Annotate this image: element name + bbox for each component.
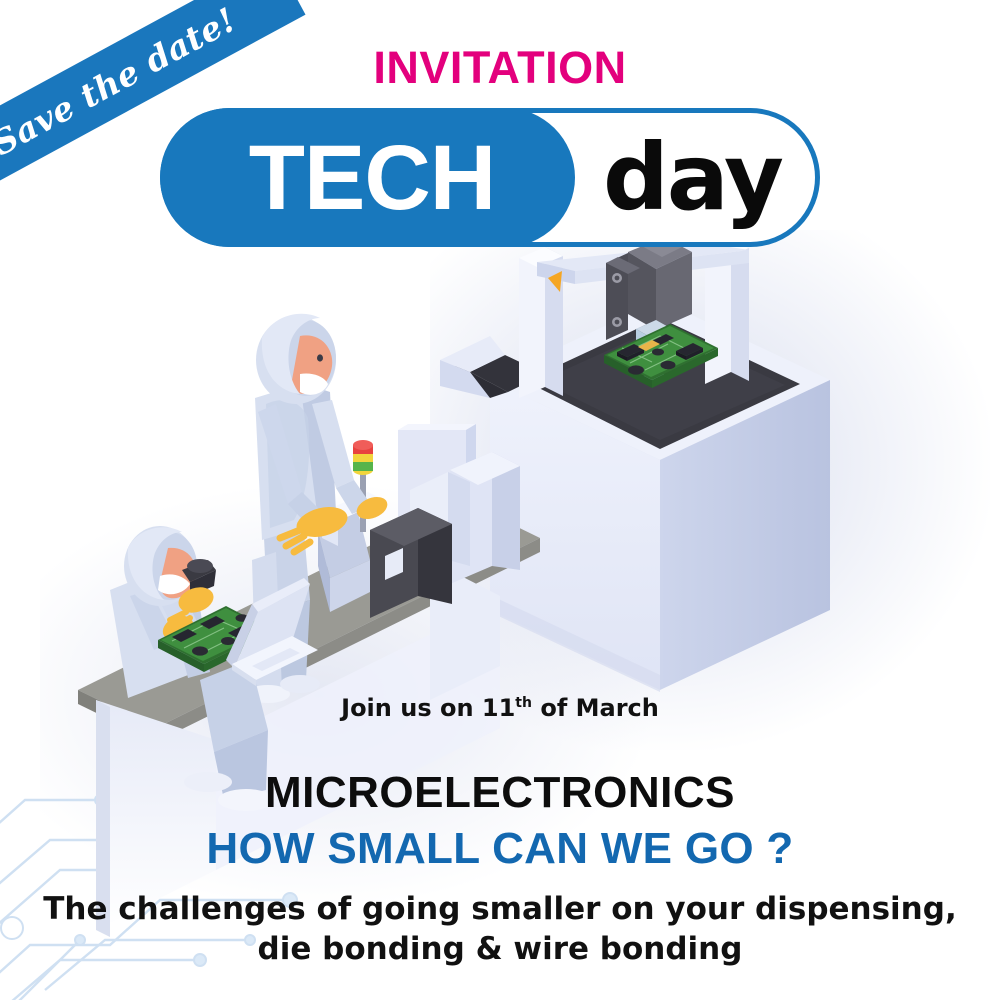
invitation-poster: Save the date! INVITATION TECH day Join …: [0, 0, 1000, 1000]
invitation-kicker: INVITATION: [0, 42, 1000, 94]
tagline-line-2: die bonding & wire bonding: [0, 930, 1000, 970]
date-ordinal: th: [515, 695, 532, 711]
bench-equipment: [318, 424, 520, 618]
logo-word-tech: TECH: [182, 108, 562, 247]
event-headline: MICROELECTRONICS: [0, 768, 1000, 818]
event-tagline: The challenges of going smaller on your …: [0, 890, 1000, 969]
event-subheadline: HOW SMALL CAN WE GO ?: [0, 824, 1000, 874]
logo-word-day: day: [585, 108, 800, 247]
date-prefix: Join us on: [341, 694, 482, 722]
event-date-line: Join us on 11th of March: [0, 694, 1000, 722]
date-number: 11: [482, 694, 515, 722]
date-suffix: of March: [532, 694, 659, 722]
techday-logo: TECH day: [160, 108, 820, 247]
tagline-line-1: The challenges of going smaller on your …: [0, 890, 1000, 930]
